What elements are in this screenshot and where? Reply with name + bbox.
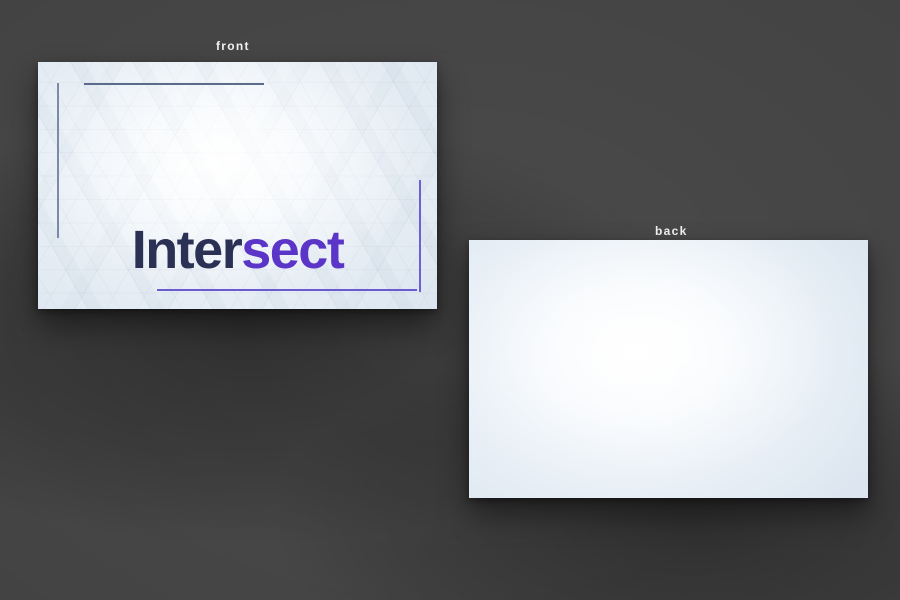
back-card[interactable]: Intersect NAME EXAMPLE JOB TITLE 111 222… bbox=[469, 240, 868, 498]
front-card-caption: front bbox=[216, 39, 250, 53]
back-card-caption: back bbox=[655, 224, 688, 238]
business-card-mockup: front Intersect back Intersect NAME EXAM… bbox=[0, 0, 900, 600]
front-logo-part-two: sect bbox=[241, 220, 343, 280]
front-rule-right-vertical bbox=[419, 180, 421, 292]
front-logo-wordmark: Intersect bbox=[132, 223, 344, 277]
front-logo-part-one: Inter bbox=[132, 220, 242, 280]
back-card-surface bbox=[469, 240, 868, 498]
front-rule-bottom-horizontal bbox=[157, 289, 417, 291]
front-rule-left-vertical bbox=[57, 83, 59, 238]
front-card[interactable]: Intersect bbox=[38, 62, 437, 309]
front-rule-top-horizontal bbox=[84, 83, 264, 85]
